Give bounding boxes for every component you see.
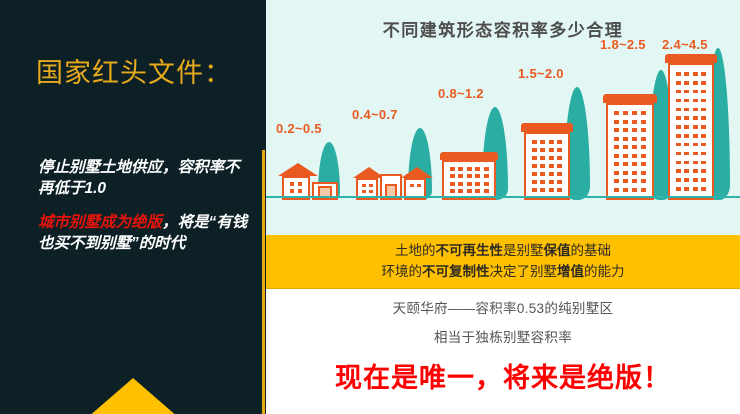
chart-value-label: 1.8~2.5 [600, 37, 646, 52]
floor-area-ratio-infographic: 不同建筑形态容积率多少合理 0.2~0.5 [266, 0, 740, 235]
band-line-2-part-a: 环境的 [382, 264, 423, 279]
left-dark-panel: 国家红头文件： 停止别墅土地供应，容积率不再低于1.0 城市别墅成为绝版，将是“… [0, 0, 266, 414]
band-line-1-part-c: 是别墅 [503, 243, 544, 258]
chart-value-label: 0.8~1.2 [438, 86, 484, 101]
chart-bar-group: 0.4~0.7 [350, 34, 434, 200]
building-roof-icon [665, 54, 717, 63]
project-note-line-2: 相当于独栋别墅容积率 [434, 326, 572, 346]
chart-bar-group: 0.8~1.2 [438, 34, 514, 200]
midrise-building-icon [524, 132, 570, 200]
chart-plot-area: 0.2~0.5 独栋别墅 [266, 34, 740, 200]
detached-villa-icon [278, 162, 340, 200]
highrise-building-icon [606, 103, 654, 200]
band-line-1-emphasis-1: 不可再生性 [436, 243, 504, 258]
chart-bar-group: 2.4~4.5 [662, 34, 740, 200]
building-roof-icon [603, 94, 657, 103]
chart-bar-group: 0.2~0.5 [276, 34, 346, 200]
value-proposition-band: 土地的不可再生性是别墅保值的基础 环境的不可复制性决定了别墅增值的能力 [266, 235, 740, 289]
band-line-1-part-a: 土地的 [395, 243, 436, 258]
chart-value-label: 2.4~4.5 [662, 37, 708, 52]
project-note-line-1: 天颐华府——容积率0.53的纯别墅区 [393, 297, 614, 317]
townhouse-icon [352, 162, 430, 200]
chart-baseline [266, 196, 740, 198]
tower-building-icon [668, 63, 714, 200]
building-roof-icon [521, 123, 573, 132]
band-line-2-emphasis-1: 不可复制性 [422, 264, 490, 279]
triangle-decoration-icon [80, 378, 186, 414]
right-content-column: 不同建筑形态容积率多少合理 0.2~0.5 [266, 0, 740, 414]
chart-value-label: 0.2~0.5 [276, 121, 322, 136]
band-line-1: 土地的不可再生性是别墅保值的基础 [395, 241, 611, 262]
band-line-1-emphasis-2: 保值 [544, 243, 571, 258]
building-roof-icon [440, 152, 498, 160]
policy-paragraph-1: 停止别墅土地供应，容积率不再低于1.0 [38, 158, 254, 200]
project-note-block: 天颐华府——容积率0.53的纯别墅区 相当于独栋别墅容积率 [266, 290, 740, 352]
band-line-2-emphasis-2: 增值 [557, 264, 584, 279]
vertical-divider-rule [262, 150, 265, 414]
chart-value-label: 1.5~2.0 [518, 66, 564, 81]
slide-root: 国家红头文件： 停止别墅土地供应，容积率不再低于1.0 城市别墅成为绝版，将是“… [0, 0, 740, 414]
band-line-2: 环境的不可复制性决定了别墅增值的能力 [382, 262, 625, 283]
band-line-1-part-e: 的基础 [571, 243, 612, 258]
chart-value-label: 0.4~0.7 [352, 107, 398, 122]
band-line-2-part-e: 的能力 [584, 264, 625, 279]
closing-slogan: 现在是唯一，将来是绝版！ [266, 356, 740, 395]
policy-paragraph-2: 城市别墅成为绝版，将是“有钱也买不到别墅”的时代 [38, 213, 254, 255]
band-line-2-part-c: 决定了别墅 [490, 264, 558, 279]
policy-highlight-red: 城市别墅成为绝版 [38, 214, 162, 231]
lowrise-building-icon [442, 160, 496, 200]
chart-bar-group: 1.5~2.0 [518, 34, 596, 200]
page-title: 国家红头文件： [36, 58, 262, 89]
